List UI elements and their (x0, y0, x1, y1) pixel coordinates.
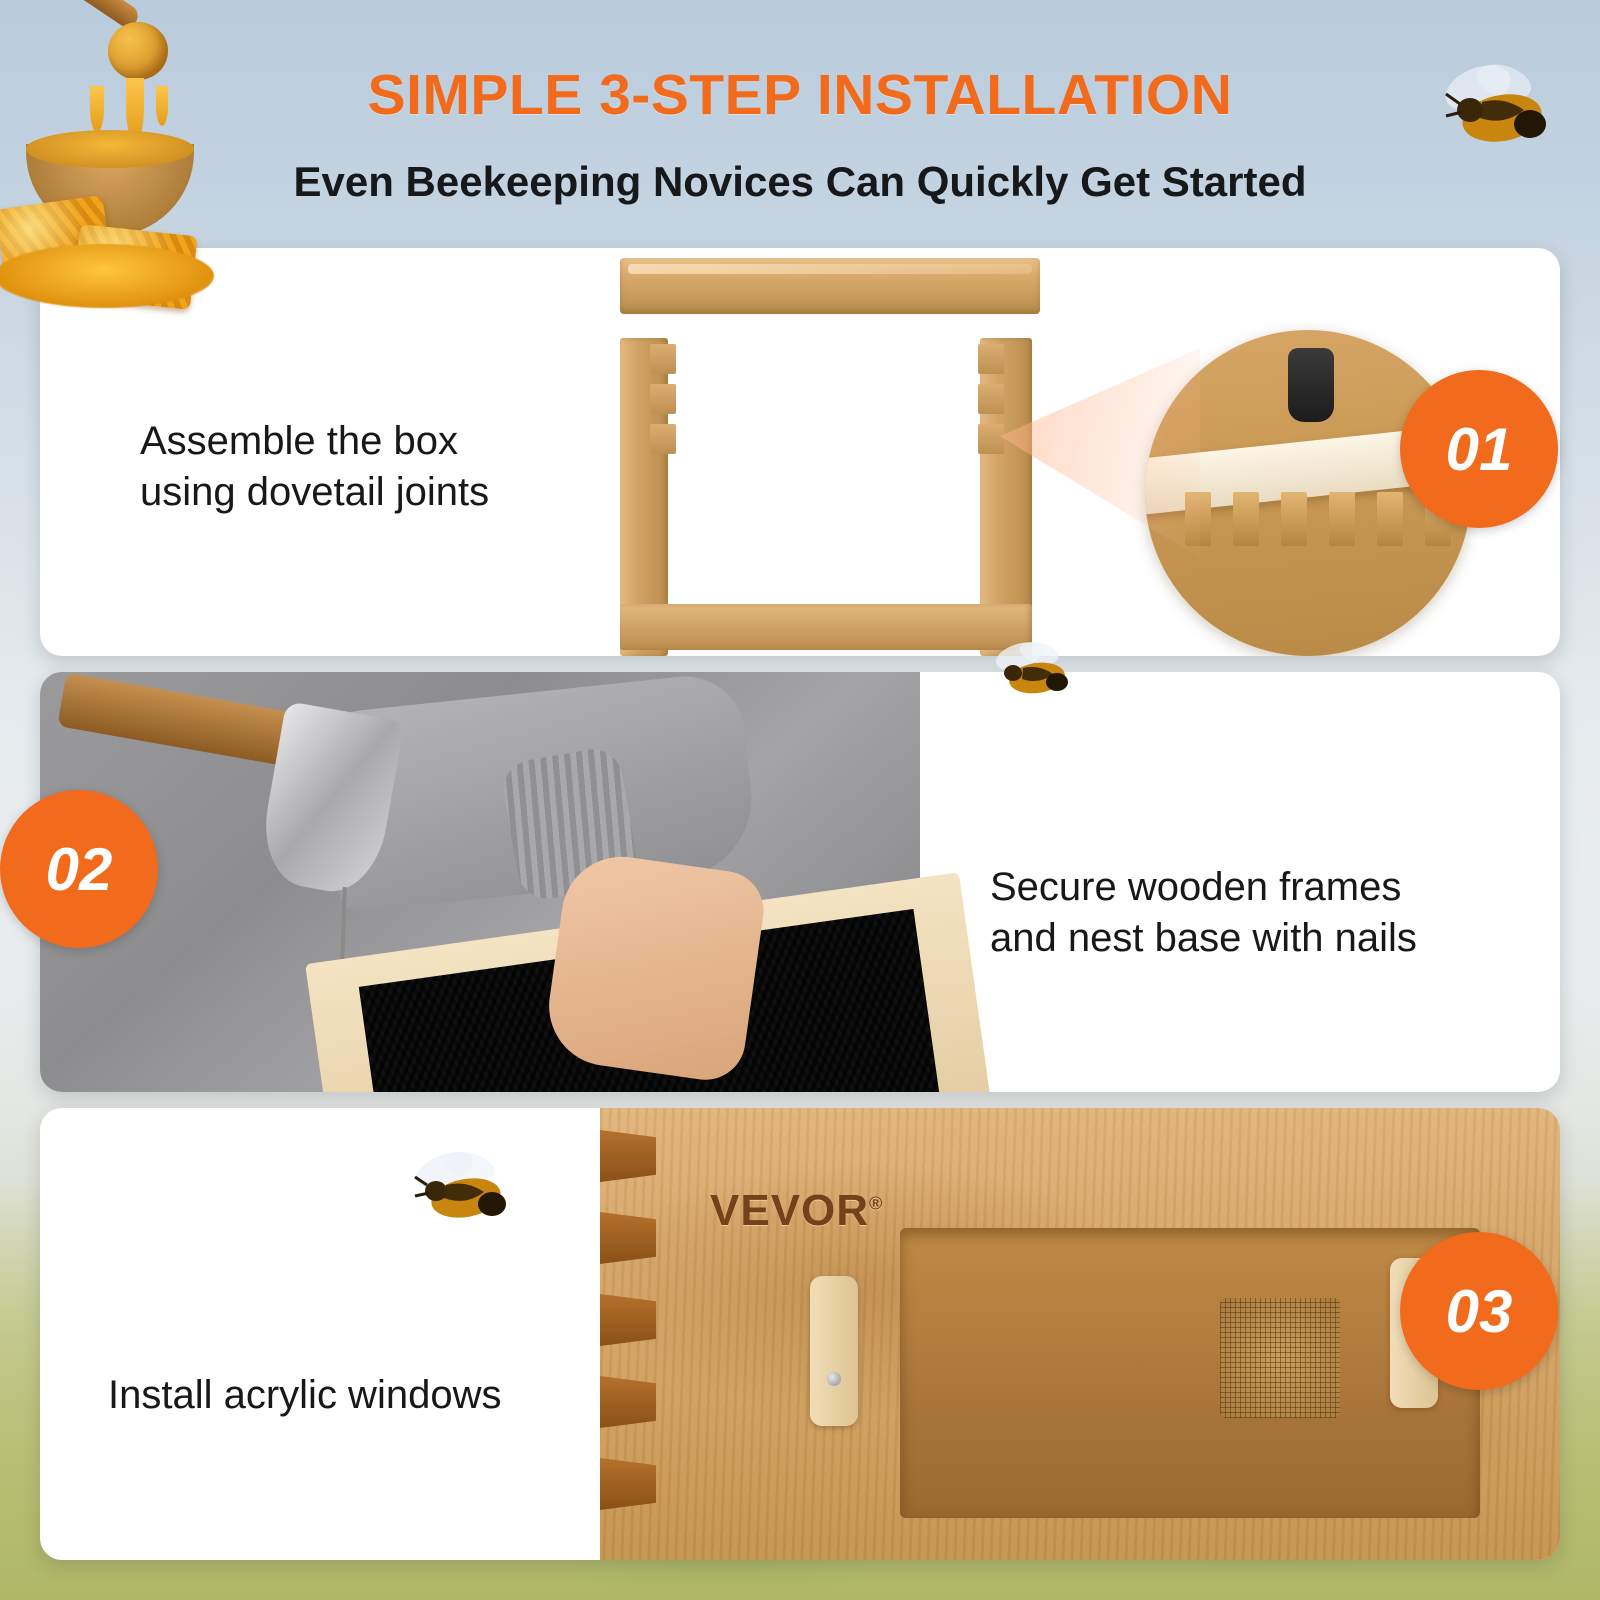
step-2-caption: Secure wooden frames and nest base with … (990, 862, 1510, 964)
screw-icon (827, 1372, 841, 1386)
page-title: SIMPLE 3-STEP INSTALLATION (0, 62, 1600, 128)
dovetail-tooth (1233, 492, 1259, 546)
bee-icon (985, 640, 1077, 702)
hive-bottom-rail (620, 604, 1032, 650)
honey-pool-icon (0, 244, 214, 308)
step-card-3: VEVOR® Install acrylic windows (40, 1108, 1560, 1560)
dovetail-notch (650, 384, 676, 414)
step-1-caption-line-1: Assemble the box (140, 416, 610, 467)
bee-icon (400, 1150, 520, 1230)
page-subtitle: Even Beekeeping Novices Can Quickly Get … (0, 158, 1600, 206)
mallet-icon (1288, 348, 1334, 422)
window-latch-left (810, 1276, 858, 1426)
brand-logo: VEVOR® (710, 1186, 883, 1236)
dovetail-notch (650, 344, 676, 374)
ventilation-mesh (1220, 1298, 1340, 1418)
dovetail-tooth (1377, 492, 1403, 546)
hive-top-rail (620, 258, 1040, 314)
step-badge-2: 02 (0, 790, 158, 948)
registered-mark: ® (869, 1193, 883, 1213)
dovetail-notch (978, 344, 1004, 374)
step-1-caption-line-2: using dovetail joints (140, 467, 610, 518)
step-card-2: Secure wooden frames and nest base with … (40, 672, 1560, 1092)
step-2-caption-line-1: Secure wooden frames (990, 862, 1510, 913)
dovetail-notch (650, 424, 676, 454)
header: SIMPLE 3-STEP INSTALLATION Even Beekeepi… (0, 0, 1600, 248)
dovetail-notch (978, 424, 1004, 454)
step-1-caption: Assemble the box using dovetail joints (140, 416, 610, 518)
step-card-1: Assemble the box using dovetail joints (40, 248, 1560, 656)
bee-icon (1430, 62, 1560, 152)
step-3-caption: Install acrylic windows (108, 1370, 628, 1421)
dovetail-tooth (1281, 492, 1307, 546)
dovetail-notch (978, 384, 1004, 414)
dovetail-tooth (1329, 492, 1355, 546)
dovetail-joint (600, 1458, 656, 1510)
step-badge-3: 03 (1400, 1232, 1558, 1390)
hand (541, 849, 768, 1085)
step-badge-1: 01 (1400, 370, 1558, 528)
step-2-caption-line-2: and nest base with nails (990, 913, 1510, 964)
dovetail-joint (600, 1294, 656, 1346)
dovetail-joint (600, 1212, 656, 1264)
dovetail-joint (600, 1130, 656, 1182)
step-3-caption-line-1: Install acrylic windows (108, 1370, 628, 1421)
brand-name: VEVOR (710, 1186, 869, 1235)
